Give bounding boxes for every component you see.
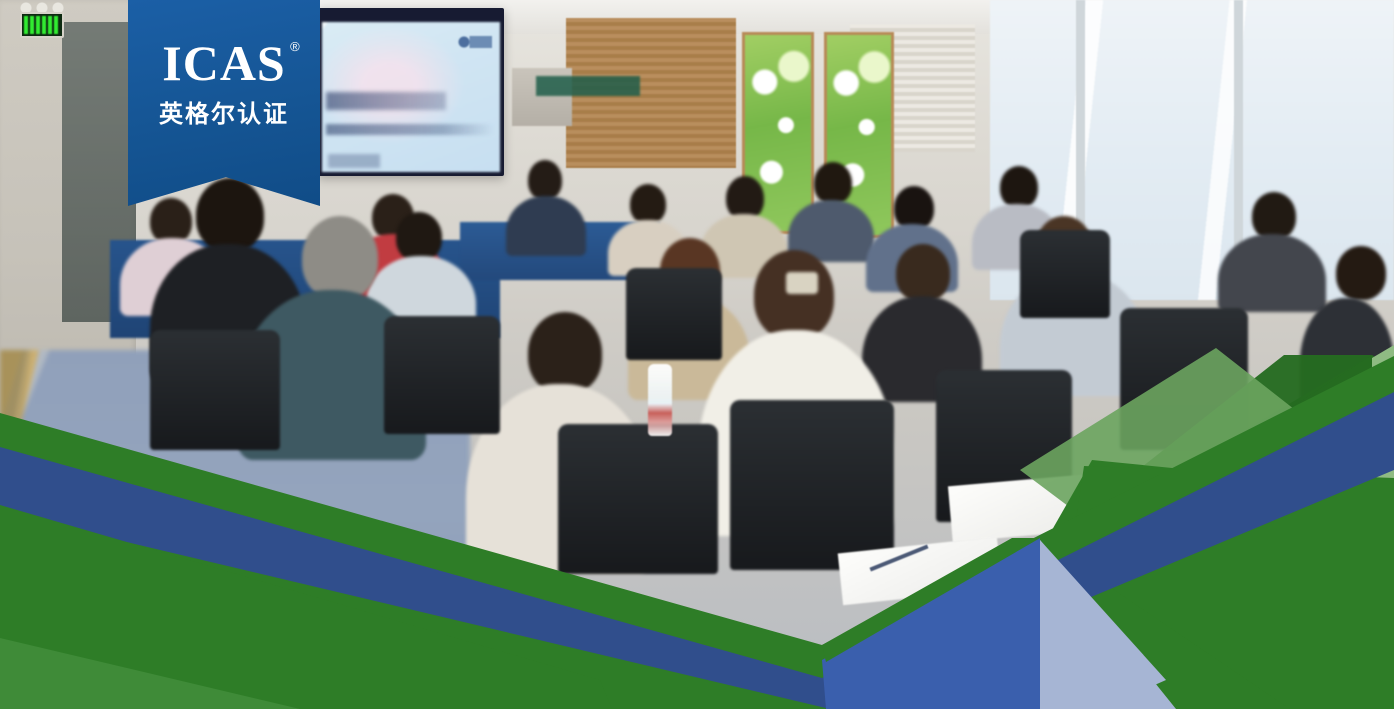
attendee-head bbox=[896, 244, 950, 302]
attendee-body bbox=[1300, 298, 1394, 406]
icas-wordmark: ICAS ® bbox=[162, 38, 285, 88]
chair bbox=[150, 330, 280, 450]
chair bbox=[384, 316, 500, 434]
attendee-head bbox=[814, 162, 852, 204]
icas-logo-lockup: ICAS ® 英格尔认证 bbox=[128, 38, 320, 129]
attendee-head bbox=[1000, 166, 1038, 208]
water-bottle bbox=[648, 364, 672, 436]
chair bbox=[1120, 308, 1248, 450]
icas-chinese-name: 英格尔认证 bbox=[128, 94, 320, 129]
attendee-body bbox=[506, 196, 586, 256]
chair bbox=[1020, 230, 1110, 318]
chair bbox=[730, 400, 894, 570]
icas-logo-block: ICAS ® 英格尔认证 bbox=[128, 0, 320, 206]
chair bbox=[626, 268, 722, 360]
banner-canvas: ICAS ® 英格尔认证 bbox=[0, 0, 1394, 709]
hair-clip bbox=[786, 272, 818, 294]
chair bbox=[558, 424, 718, 574]
attendee-head bbox=[1252, 192, 1296, 240]
registered-trademark-icon: ® bbox=[290, 40, 301, 53]
attendee-head bbox=[1336, 246, 1386, 300]
attendee-body bbox=[1218, 234, 1326, 312]
icas-wordmark-text: ICAS bbox=[162, 35, 285, 91]
attendee-head bbox=[396, 212, 442, 262]
attendee-head bbox=[528, 312, 602, 394]
attendee-head bbox=[528, 160, 562, 200]
attendee-head bbox=[754, 250, 834, 340]
attendee-head bbox=[630, 184, 666, 224]
attendee-head bbox=[196, 178, 264, 252]
attendee-head bbox=[302, 216, 378, 300]
